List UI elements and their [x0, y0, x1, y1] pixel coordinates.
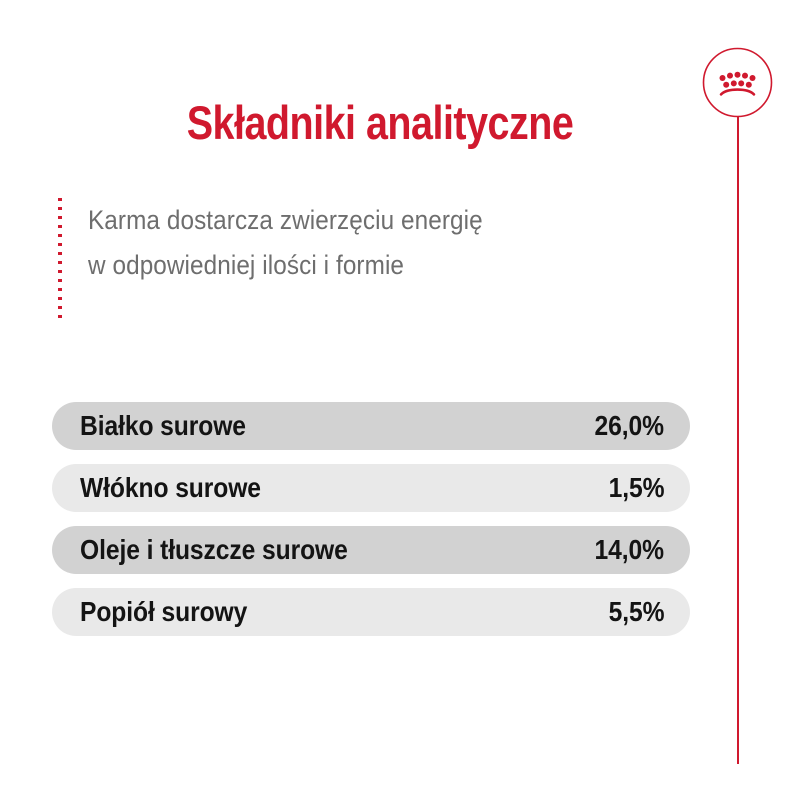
intro-line-1: Karma dostarcza zwierzęciu energię [88, 198, 483, 243]
table-row: Włókno surowe 1,5% [52, 464, 690, 512]
intro-line-2: w odpowiedniej ilości i formie [88, 243, 483, 288]
table-row: Białko surowe 26,0% [52, 402, 690, 450]
intro-paragraph: Karma dostarcza zwierzęciu energię w odp… [88, 198, 483, 288]
constituent-label: Oleje i tłuszcze surowe [80, 536, 348, 564]
table-row: Oleje i tłuszcze surowe 14,0% [52, 526, 690, 574]
intro-block: Karma dostarcza zwierzęciu energię w odp… [58, 198, 658, 318]
constituent-value: 14,0% [595, 536, 664, 564]
constituent-label: Włókno surowe [80, 474, 261, 502]
constituent-label: Białko surowe [80, 412, 246, 440]
royal-canin-crown-icon [702, 47, 773, 118]
page-title: Składniki analityczne [61, 95, 699, 151]
dotted-rule-decoration [58, 198, 62, 318]
constituent-label: Popiół surowy [80, 598, 247, 626]
constituent-value: 5,5% [608, 598, 664, 626]
infographic-canvas: Składniki analityczne Karma dostarcza zw… [0, 0, 800, 800]
analytical-constituents-table: Białko surowe 26,0% Włókno surowe 1,5% O… [52, 402, 690, 636]
brand-stem-line [737, 116, 739, 764]
constituent-value: 26,0% [595, 412, 664, 440]
table-row: Popiół surowy 5,5% [52, 588, 690, 636]
constituent-value: 1,5% [608, 474, 664, 502]
